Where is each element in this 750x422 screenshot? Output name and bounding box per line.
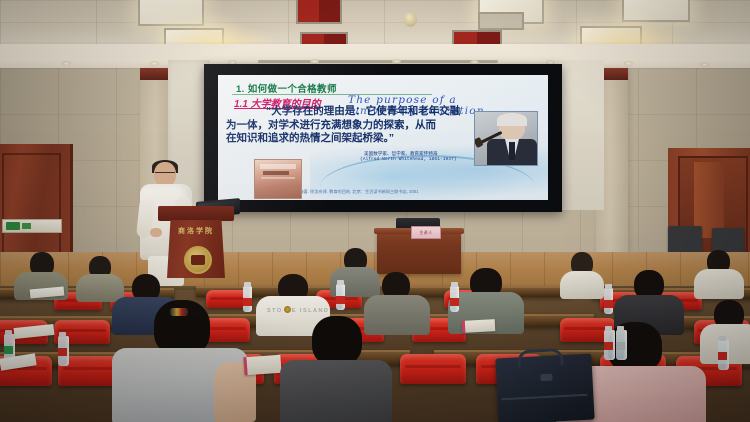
- ceiling-panel-light: [622, 0, 690, 22]
- tshirt-logo: STOE ISLAND: [267, 306, 329, 314]
- slide-title: 1. 如何做一个合格教师: [236, 81, 337, 95]
- lecture-hall-photo: 1. 如何做一个合格教师 1.1 大学教育的目的 The purpose of …: [0, 0, 750, 422]
- audience-member-foreground: [280, 316, 392, 422]
- presentation-slide: 1. 如何做一个合格教师 1.1 大学教育的目的 The purpose of …: [218, 75, 548, 200]
- door-left[interactable]: [0, 144, 73, 262]
- slide-attribution-en: (Alfred North Whitehead, 1861-1947): [360, 157, 457, 162]
- name-placard: 主讲人: [411, 226, 441, 239]
- briefcase-clasp-icon: [540, 374, 552, 382]
- notebook[interactable]: [243, 355, 281, 376]
- lectern-top: [158, 206, 234, 221]
- water-bottle[interactable]: [616, 330, 627, 360]
- soffit-seam: [258, 60, 498, 63]
- school-crest-icon: [184, 246, 212, 274]
- audience-member: [560, 252, 604, 298]
- briefcase-handle: [517, 348, 564, 367]
- water-bottle[interactable]: [604, 288, 613, 314]
- water-bottle[interactable]: [336, 284, 345, 310]
- exit-sign: [2, 219, 62, 233]
- book-cover-image: [254, 159, 302, 199]
- lectern-venue-name: 商洛学院: [174, 226, 218, 236]
- ceiling-vent: [478, 12, 524, 30]
- water-bottle[interactable]: [58, 336, 69, 366]
- ceiling-vent: [296, 0, 342, 24]
- wall-panel-right: [556, 60, 604, 210]
- downlight: [150, 61, 159, 66]
- whitehead-portrait: [474, 111, 538, 166]
- audience-member: [694, 250, 744, 298]
- ceiling-dome-light: [404, 12, 417, 27]
- briefcase[interactable]: [495, 354, 594, 422]
- downlight: [624, 61, 633, 66]
- name-placard-text: 主讲人: [412, 227, 440, 238]
- ceiling-panel-light: [138, 0, 204, 26]
- water-bottle[interactable]: [450, 286, 459, 312]
- hair-clip: [170, 308, 188, 316]
- water-bottle[interactable]: [718, 340, 729, 370]
- stone-island-badge-icon: [284, 306, 291, 313]
- slide-quote-line-2: 为一体，对学术进行充满想象力的探索，从而: [226, 119, 486, 133]
- water-bottle[interactable]: [604, 330, 615, 360]
- glasses-icon: [155, 172, 175, 177]
- slide-quote-line-1: “大学存在的理由是：它使青年和老年交融: [226, 105, 486, 119]
- door-panel: [2, 153, 61, 256]
- notebook[interactable]: [462, 319, 496, 333]
- exit-icon-arrow: [22, 223, 31, 229]
- slide-quote: “大学存在的理由是：它使青年和老年交融 为一体，对学术进行充满想象力的探索，从而…: [226, 105, 486, 146]
- downlight: [700, 62, 709, 67]
- projection-screen: 1. 如何做一个合格教师 1.1 大学教育的目的 The purpose of …: [204, 64, 562, 212]
- exit-icon: [6, 222, 20, 230]
- lectern: 商洛学院: [158, 206, 234, 278]
- downlight: [62, 61, 71, 66]
- auditorium-seat[interactable]: [400, 354, 466, 384]
- briefcase-zipper: [501, 394, 587, 400]
- slide-quote-line-3: 在知识和追求的热情之间架起桥梁。”: [226, 132, 486, 146]
